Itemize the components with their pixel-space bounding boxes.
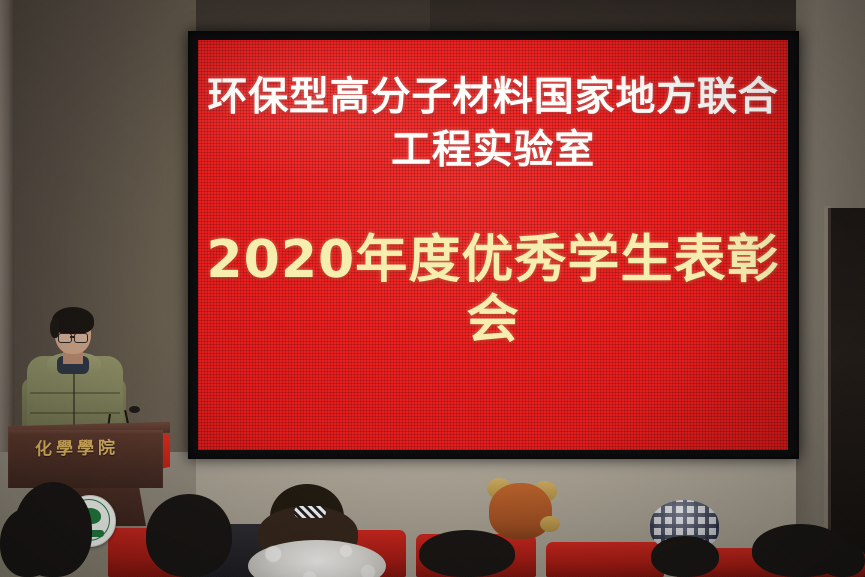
jacket-seam <box>30 412 120 414</box>
wall-seam <box>648 452 649 542</box>
screen-title-line-2: 工程实验室 <box>198 126 788 175</box>
wall-seam <box>845 0 846 200</box>
glasses-right-lens <box>74 333 88 343</box>
audience-head <box>651 536 719 577</box>
audience-head <box>0 508 56 577</box>
jacket-seam <box>30 392 120 394</box>
led-display-frame: 环保型高分子材料国家地方联合 工程实验室 2020年度优秀学生表彰会 <box>188 31 799 459</box>
audience-head <box>419 530 515 577</box>
auditorium-seat <box>546 542 664 577</box>
photograph-scene: 环保型高分子材料国家地方联合 工程实验室 2020年度优秀学生表彰会 化學學院 <box>0 0 865 577</box>
glasses-bridge <box>70 336 74 338</box>
audience-head <box>146 494 232 577</box>
wall-seam <box>470 452 471 522</box>
screen-subtitle: 2020年度优秀学生表彰会 <box>198 230 788 350</box>
audience-head <box>820 542 865 577</box>
wall-seam <box>172 0 173 505</box>
fur-hood <box>248 540 386 577</box>
microphone-icon <box>129 406 140 413</box>
jacket-zipper <box>73 370 75 432</box>
hair-clip <box>294 506 326 518</box>
led-display: 环保型高分子材料国家地方联合 工程实验室 2020年度优秀学生表彰会 <box>198 40 788 450</box>
bear-hat-paw <box>540 516 560 532</box>
podium-label: 化學學院 <box>22 433 132 460</box>
doorway <box>828 208 865 577</box>
bear-hat <box>489 483 552 539</box>
glasses-left-lens <box>58 333 72 343</box>
screen-title-line-1: 环保型高分子材料国家地方联合 <box>198 73 788 122</box>
